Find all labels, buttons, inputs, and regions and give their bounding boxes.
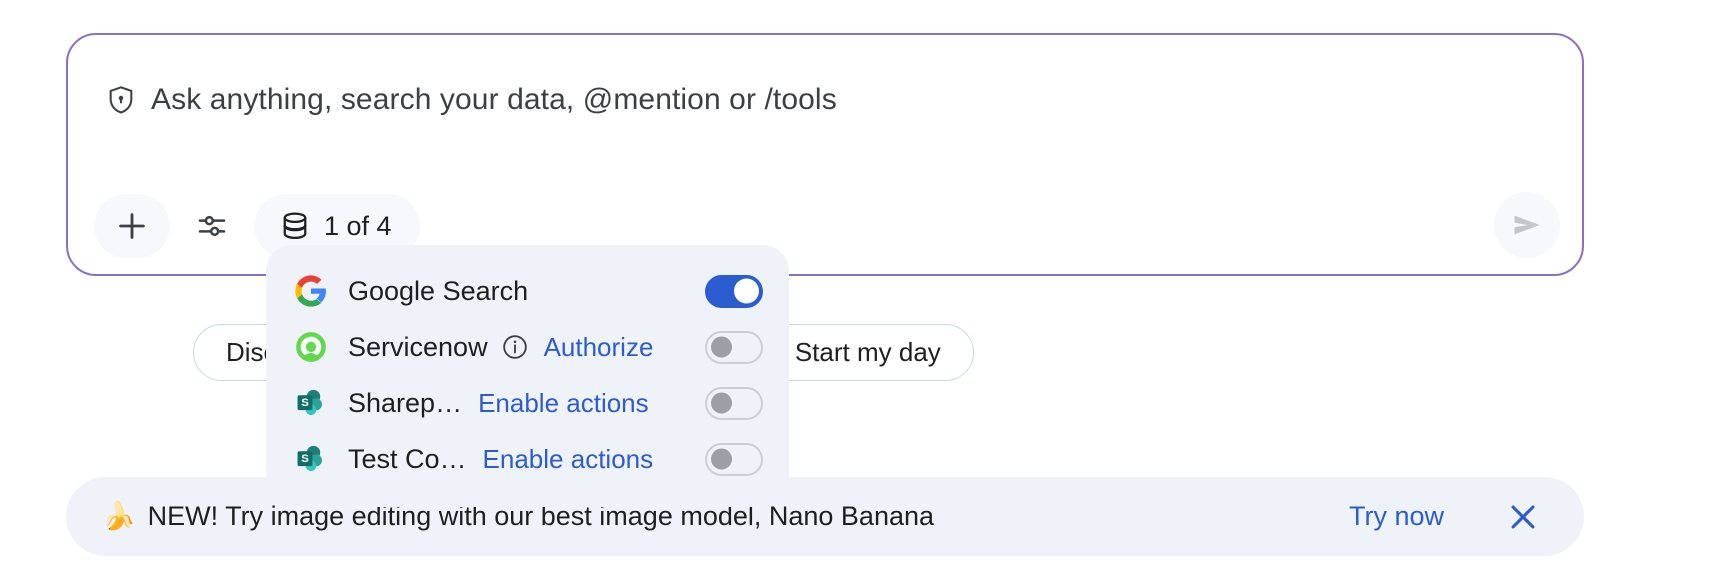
source-toggle-test-connector[interactable] <box>705 443 763 476</box>
banana-emoji-icon: 🍌 <box>102 503 136 530</box>
enable-actions-link[interactable]: Enable actions <box>478 388 649 419</box>
database-icon <box>280 211 310 241</box>
sharepoint-icon: S <box>294 386 328 420</box>
page-root: Ask anything, search your data, @mention… <box>0 0 1726 584</box>
send-icon <box>1510 208 1544 242</box>
svg-text:S: S <box>301 453 309 465</box>
source-toggle-sharepoint[interactable] <box>705 387 763 420</box>
prompt-input-row[interactable]: Ask anything, search your data, @mention… <box>108 83 837 117</box>
try-now-link[interactable]: Try now <box>1349 501 1444 532</box>
send-button[interactable] <box>1494 192 1560 258</box>
authorize-link[interactable]: Authorize <box>544 332 654 363</box>
toggle-knob <box>711 449 732 470</box>
toggle-knob <box>734 279 759 304</box>
source-toggle-servicenow[interactable] <box>705 331 763 364</box>
source-name-label: Sharep… <box>348 388 462 419</box>
source-name-label: Test Co… <box>348 444 467 475</box>
toggle-knob <box>711 393 732 414</box>
plus-icon <box>115 209 149 243</box>
tools-settings-button[interactable] <box>174 194 250 258</box>
tune-icon <box>196 210 228 242</box>
servicenow-icon <box>294 330 328 364</box>
chip-start-my-day[interactable]: Start my day <box>762 324 974 381</box>
svg-text:S: S <box>301 397 309 409</box>
prompt-composer[interactable]: Ask anything, search your data, @mention… <box>66 33 1584 276</box>
source-row-servicenow[interactable]: Servicenow Authorize <box>266 319 789 375</box>
data-sources-dropdown: Google Search Servicenow Authorize <box>266 245 789 507</box>
toggle-knob <box>711 337 732 358</box>
source-row-sharepoint[interactable]: S Sharep… Enable actions <box>266 375 789 431</box>
close-icon[interactable] <box>1506 500 1540 534</box>
sharepoint-icon: S <box>294 442 328 476</box>
source-row-test-connector[interactable]: S Test Co… Enable actions <box>266 431 789 487</box>
source-toggle-google-search[interactable] <box>705 275 763 308</box>
add-attachment-button[interactable] <box>94 194 170 258</box>
google-icon <box>294 274 328 308</box>
info-icon[interactable] <box>502 334 528 360</box>
enable-actions-link[interactable]: Enable actions <box>483 444 654 475</box>
data-sources-count-label: 1 of 4 <box>324 211 392 242</box>
source-name-label: Servicenow <box>348 332 488 363</box>
source-row-google-search[interactable]: Google Search <box>266 263 789 319</box>
source-name-label: Google Search <box>348 276 528 307</box>
prompt-placeholder: Ask anything, search your data, @mention… <box>151 83 837 117</box>
shield-lock-icon <box>108 86 134 114</box>
